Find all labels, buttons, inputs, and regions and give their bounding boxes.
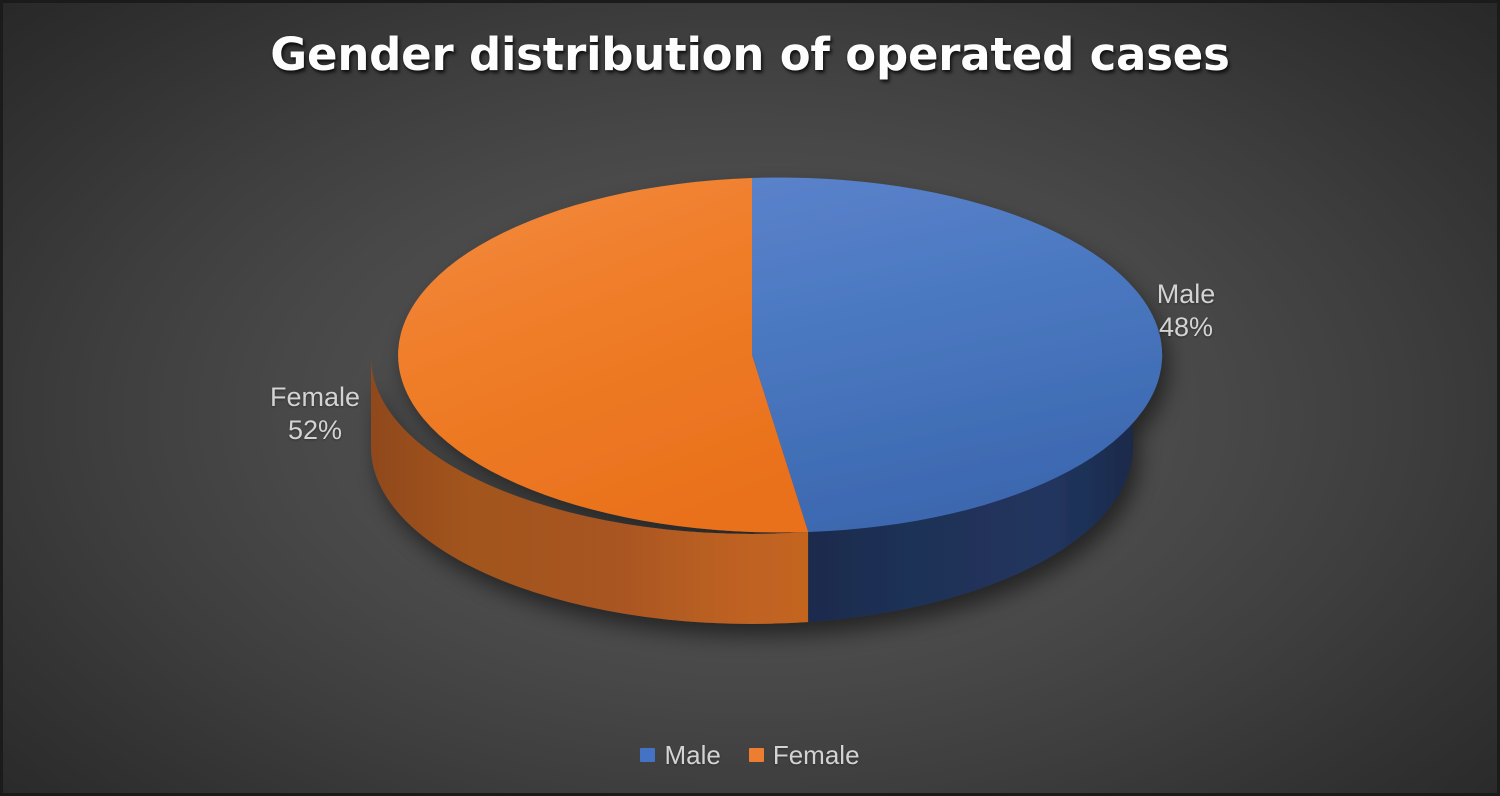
chart-legend: Male Female	[3, 742, 1497, 768]
data-label-male: Male 48%	[1111, 278, 1261, 344]
pie-chart-svg	[3, 3, 1500, 703]
data-label-male-name: Male	[1111, 278, 1261, 311]
legend-swatch-male	[640, 748, 655, 762]
legend-item-male[interactable]: Male	[640, 742, 720, 768]
chart-slide: Gender distribution of operated cases	[0, 0, 1500, 796]
data-label-male-value: 48%	[1111, 311, 1261, 344]
data-label-female-value: 52%	[235, 414, 395, 447]
legend-label-male: Male	[664, 742, 720, 768]
data-label-female: Female 52%	[235, 381, 395, 447]
legend-label-female: Female	[773, 742, 860, 768]
legend-swatch-female	[749, 748, 764, 762]
pie-3d-body	[371, 178, 1162, 624]
legend-item-female[interactable]: Female	[749, 742, 860, 768]
pie-chart: Male 48% Female 52%	[3, 3, 1500, 703]
data-label-female-name: Female	[235, 381, 395, 414]
